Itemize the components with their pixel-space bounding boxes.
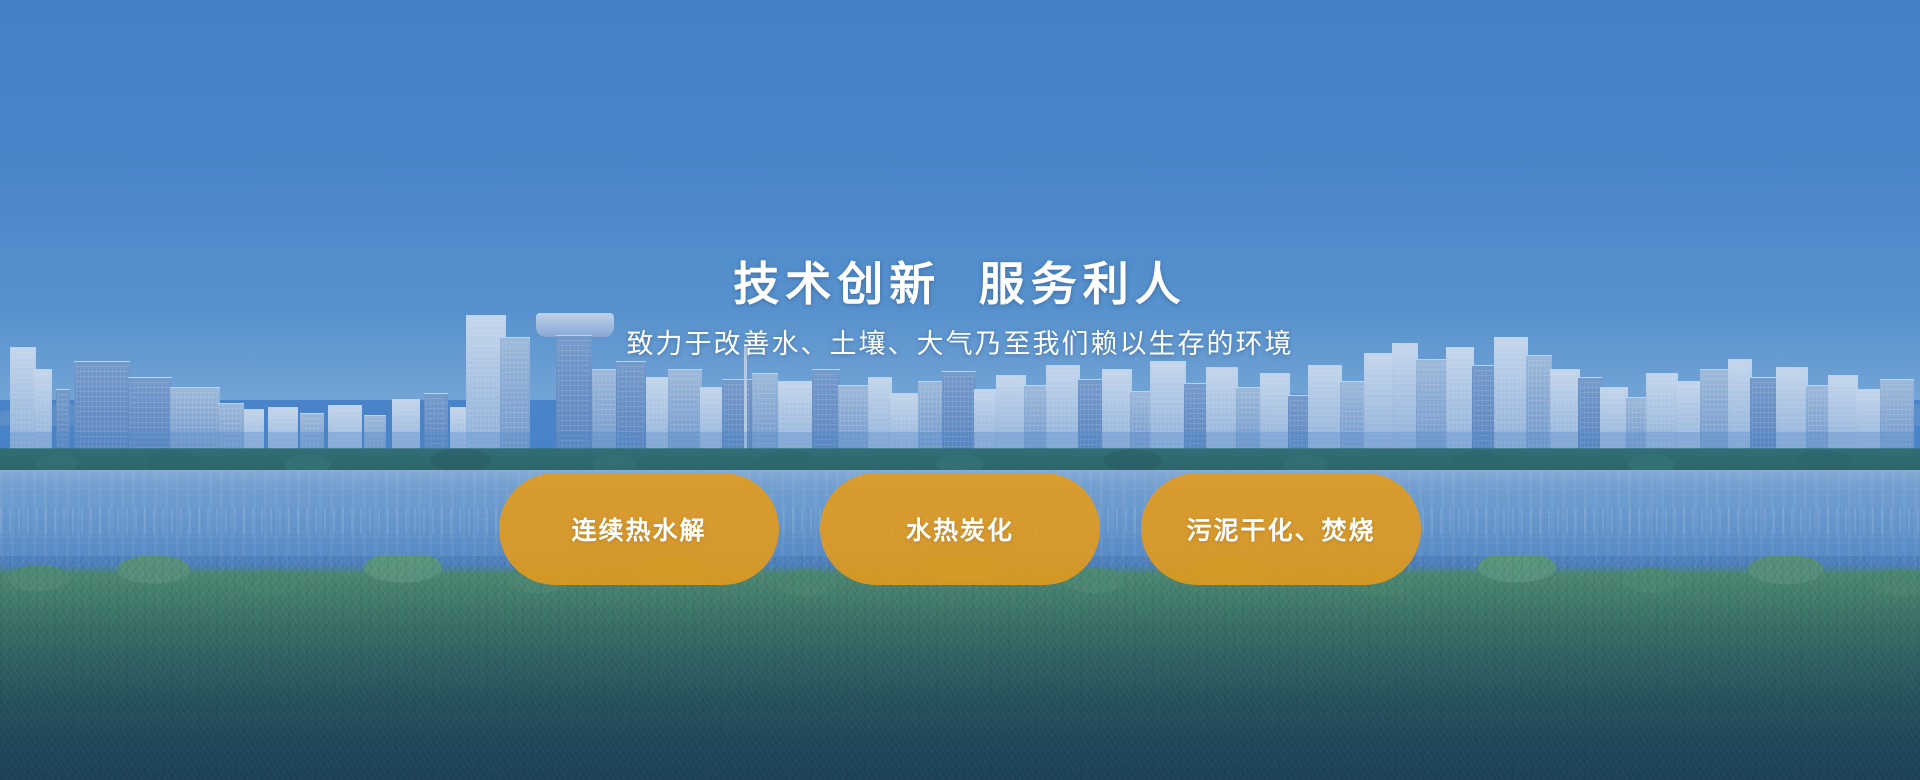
hero-banner: 技术创新 服务利人 致力于改善水、土壤、大气乃至我们赖以生存的环境 连续热水解 …	[0, 0, 1920, 780]
hero-button-row: 连续热水解 水热炭化 污泥干化、焚烧	[0, 473, 1920, 585]
service-button-hydrothermal-carbonization[interactable]: 水热炭化	[820, 473, 1100, 585]
service-button-sludge-drying-incineration[interactable]: 污泥干化、焚烧	[1141, 473, 1421, 585]
mangrove-foreground-layer	[0, 556, 1920, 780]
mangrove-blue-tint	[0, 556, 1920, 780]
service-button-continuous-thermal-hydrolysis[interactable]: 连续热水解	[499, 473, 779, 585]
